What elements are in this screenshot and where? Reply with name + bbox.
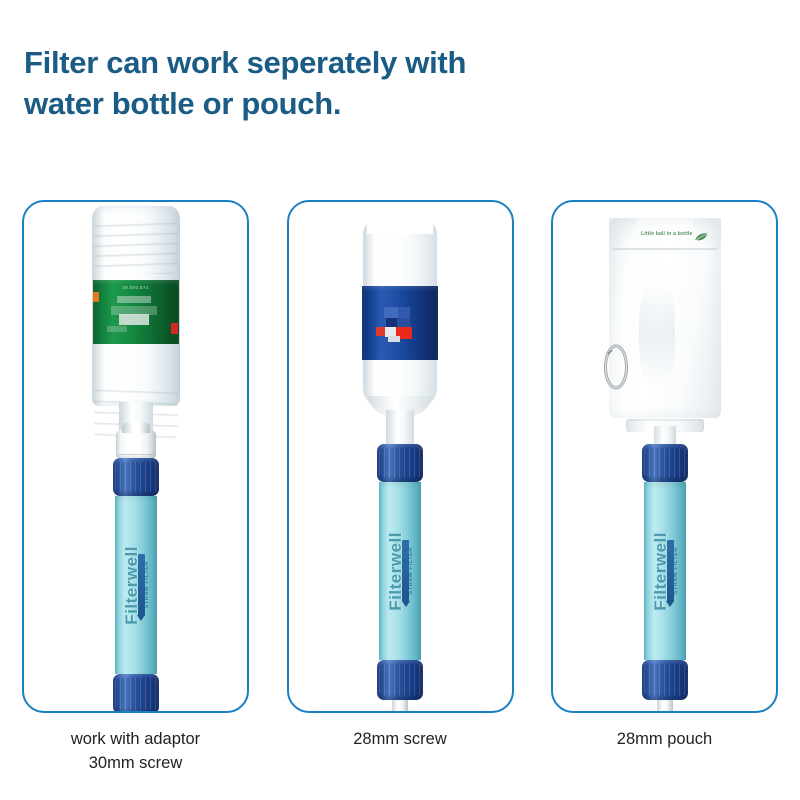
filter-collar-bottom — [377, 660, 423, 700]
caption-28mm-pouch: 28mm pouch — [551, 728, 778, 776]
collar-ribs — [115, 462, 157, 492]
carabiner-icon — [603, 344, 629, 390]
collar-ribs — [644, 448, 686, 478]
filter-branding: Filterwell STRAW FILTER — [115, 496, 157, 674]
panel-adaptor[interactable]: 28.000.874 — [22, 200, 249, 713]
collar-ribs — [379, 448, 421, 478]
panel-adaptor-image: 28.000.874 — [24, 202, 247, 711]
flow-arrow-icon — [138, 554, 145, 616]
flow-arrow-icon — [402, 540, 409, 602]
filter-assembly: Filterwell STRAW FILTER — [113, 430, 159, 713]
bottle-label-blue — [362, 286, 438, 360]
mouthpiece — [657, 700, 673, 713]
logo-pixel — [398, 307, 410, 318]
filter-body: Filterwell STRAW FILTER — [644, 482, 686, 660]
page-title-line-2: water bottle or pouch. — [24, 83, 664, 124]
bottle-label-green: 28.000.874 — [93, 280, 179, 344]
caption-line-1: 28mm screw — [353, 730, 447, 748]
flow-arrow-icon — [667, 540, 674, 602]
panel-28mm-screw-image: Filterwell STRAW FILTER — [289, 202, 512, 711]
adaptor-30mm — [116, 430, 156, 458]
filter-branding: Filterwell STRAW FILTER — [379, 482, 421, 660]
label-pixel-block — [107, 326, 127, 332]
logo-pixel — [388, 336, 400, 342]
panel-row: 28.000.874 — [22, 200, 778, 713]
caption-adaptor: work with adaptor 30mm screw — [22, 728, 249, 776]
filter-assembly: Filterwell STRAW FILTER — [642, 444, 688, 713]
caption-line-1: work with adaptor — [71, 730, 200, 748]
filter-body: Filterwell STRAW FILTER — [115, 496, 157, 674]
collar-ribs — [115, 678, 157, 710]
leaf-icon — [695, 232, 709, 242]
collar-ribs — [644, 664, 686, 696]
filter-body: Filterwell STRAW FILTER — [379, 482, 421, 660]
caption-line-2: 30mm screw — [22, 752, 249, 776]
bottle-base-lobes — [367, 214, 433, 234]
panel-28mm-pouch[interactable]: Little ball in a bottle — [551, 200, 778, 713]
pouch-logo: Little ball in a bottle — [641, 232, 693, 237]
logo-pixel — [384, 307, 398, 318]
product-infographic: Filter can work seperately with water bo… — [0, 0, 800, 800]
bottle-ridges-upper — [94, 218, 178, 274]
panel-28mm-screw[interactable]: Filterwell STRAW FILTER — [287, 200, 514, 713]
mouthpiece — [392, 700, 408, 713]
caption-line-1: 28mm pouch — [617, 730, 712, 748]
bottle-logo-pixelated — [382, 305, 418, 341]
collar-ribs — [379, 664, 421, 696]
label-pixel-block — [117, 296, 151, 303]
panel-28mm-pouch-image: Little ball in a bottle — [553, 202, 776, 711]
caption-28mm-screw: 28mm screw — [287, 728, 514, 776]
pouch-highlight — [639, 278, 675, 388]
bottle-label-code: 28.000.874 — [122, 285, 149, 290]
filter-collar-top — [377, 444, 423, 482]
filter-collar-top — [642, 444, 688, 482]
label-accent-orange — [93, 292, 99, 302]
filter-collar-top — [113, 458, 159, 496]
page-title: Filter can work seperately with water bo… — [24, 42, 664, 124]
water-bottle-green: 28.000.874 — [92, 206, 180, 448]
caption-row: work with adaptor 30mm screw 28mm screw … — [22, 728, 778, 776]
filter-collar-bottom — [113, 674, 159, 713]
filter-branding: Filterwell STRAW FILTER — [644, 482, 686, 660]
pouch-fold-left — [609, 218, 637, 252]
collapsible-pouch: Little ball in a bottle — [609, 218, 721, 446]
page-title-line-1: Filter can work seperately with — [24, 42, 664, 83]
pouch-logo-text: Little ball in a bottle — [641, 232, 693, 237]
water-bottle-blue — [363, 220, 437, 452]
pouch-seam — [613, 248, 717, 250]
label-pixel-block — [119, 314, 149, 325]
filter-assembly: Filterwell STRAW FILTER — [377, 444, 423, 713]
filter-collar-bottom — [642, 660, 688, 700]
label-accent-red — [171, 323, 178, 334]
